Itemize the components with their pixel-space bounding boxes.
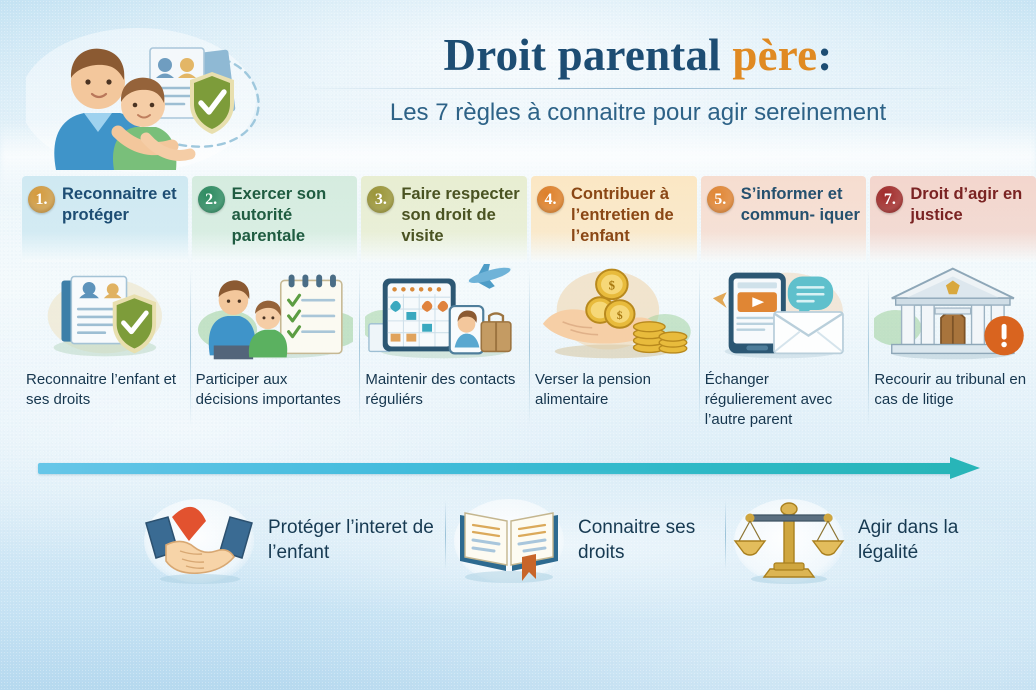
step-5-caption: Échanger régulierement avec l’autre pare… (705, 370, 863, 429)
step-2-headband: 2. Exercer son autorité parentale (192, 176, 358, 262)
column-divider (699, 268, 700, 428)
step-7-caption: Recourir au tribunal en cas de litige (874, 370, 1032, 410)
step-5-headband: 5. S’informer et commun- iquer (701, 176, 867, 262)
step-1-headline: Reconnaitre et protéger (62, 184, 182, 226)
step-card-4: 4. Contribuer à l’entretien de l’enfant … (531, 176, 697, 442)
step-3-number-badge: 3. (367, 186, 394, 213)
calendar-tablet-plane-suitcase-icon (365, 264, 523, 360)
title-divider (288, 88, 988, 89)
step-4-headband: 4. Contribuer à l’entretien de l’enfant (531, 176, 697, 262)
steps-row: 1. Reconnaitre et protéger (22, 176, 1036, 442)
step-2-headline: Exercer son autorité parentale (232, 184, 352, 247)
step-7-headband: 7. Droit d’agir en justice (870, 176, 1036, 262)
pillars-row: Protéger l’interet de l’enfant (140, 486, 1020, 596)
step-7-number-badge: 7. (876, 186, 903, 213)
step-card-7: 7. Droit d’agir en justice (870, 176, 1036, 442)
handshake-with-heart-icon (140, 493, 258, 589)
svg-text:$: $ (617, 308, 623, 322)
pillar-3-label: Agir dans la légalité (858, 516, 1020, 565)
column-divider (529, 268, 530, 428)
step-2-caption: Participer aux décisions importantes (196, 370, 354, 410)
page-title: Droit parental père: (268, 32, 1008, 79)
title-main: Droit parental (444, 30, 721, 80)
step-1-headband: 1. Reconnaitre et protéger (22, 176, 188, 262)
step-4-headline: Contribuer à l’entretien de l’enfant (571, 184, 691, 247)
step-card-3: 3. Faire respecter son droit de visite (361, 176, 527, 442)
step-1-number-badge: 1. (28, 186, 55, 213)
pillar-item-1: Protéger l’interet de l’enfant (140, 486, 450, 596)
step-1-caption: Reconnaitre l’enfant et ses droits (26, 370, 184, 410)
header: Droit parental père: Les 7 règles à conn… (0, 0, 1036, 172)
page-subtitle: Les 7 règles à connaitre pour agir serei… (268, 99, 1008, 127)
right-arrow-progress (38, 457, 998, 479)
smartphone-chat-envelope-icon (705, 264, 863, 360)
step-4-number-badge: 4. (537, 186, 564, 213)
parent-child-checklist-icon (196, 264, 354, 360)
hand-with-gold-coins-icon: $ $ (535, 264, 693, 360)
open-book-with-bookmark-icon (450, 493, 568, 589)
title-colon: : (817, 30, 832, 80)
column-divider (868, 268, 869, 428)
courthouse-with-alert-icon (874, 264, 1032, 360)
step-7-headline: Droit d’agir en justice (910, 184, 1030, 226)
father-and-child-with-document-shield-illustration (26, 20, 276, 172)
pillar-2-label: Connaitre ses droits (578, 516, 730, 565)
step-3-headline: Faire respecter son droit de visite (401, 184, 521, 247)
column-divider (359, 268, 360, 428)
arrow-head-icon (950, 457, 980, 479)
justice-scales-icon (730, 493, 848, 589)
step-3-headband: 3. Faire respecter son droit de visite (361, 176, 527, 262)
pillar-divider (445, 500, 446, 570)
pillar-item-3: Agir dans la légalité (730, 486, 1020, 596)
step-3-caption: Maintenir des contacts réguliérs (365, 370, 523, 410)
pillar-1-label: Protéger l’interet de l’enfant (268, 516, 450, 565)
step-card-2: 2. Exercer son autorité parentale (192, 176, 358, 442)
step-2-number-badge: 2. (198, 186, 225, 213)
pillar-divider (725, 500, 726, 570)
title-accent: père (732, 30, 817, 80)
svg-text:$: $ (609, 278, 616, 292)
step-5-number-badge: 5. (707, 186, 734, 213)
infographic-poster: Droit parental père: Les 7 règles à conn… (0, 0, 1036, 690)
pillar-item-2: Connaitre ses droits (450, 486, 730, 596)
step-card-5: 5. S’informer et commun- iquer (701, 176, 867, 442)
step-4-caption: Verser la pension alimentaire (535, 370, 693, 410)
title-block: Droit parental père: Les 7 règles à conn… (268, 32, 1008, 127)
step-card-1: 1. Reconnaitre et protéger (22, 176, 188, 442)
arrow-shaft (38, 463, 954, 474)
document-with-shield-check-icon (26, 264, 184, 360)
step-5-headline: S’informer et commun- iquer (741, 184, 861, 226)
column-divider (190, 268, 191, 428)
